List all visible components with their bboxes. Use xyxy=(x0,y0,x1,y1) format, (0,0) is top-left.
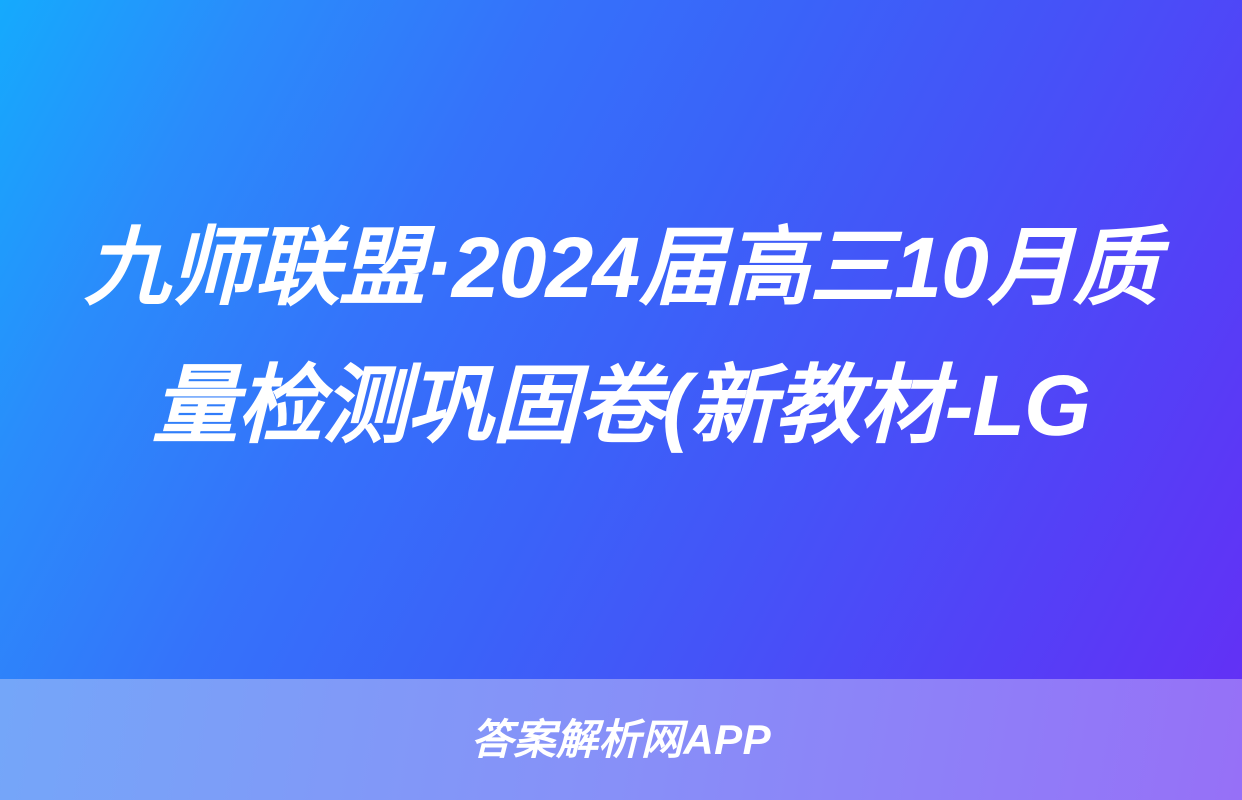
hero-banner: 九师联盟·2024届高三10月质量检测巩固卷(新教材-LG xyxy=(0,0,1242,679)
brand-watermark-label: 答案解析网APP xyxy=(471,719,771,761)
exam-paper-cover-poster: 九师联盟·2024届高三10月质量检测巩固卷(新教材-LG 答案解析网APP xyxy=(0,0,1242,800)
page-title: 九师联盟·2024届高三10月质量检测巩固卷(新教材-LG xyxy=(81,200,1161,479)
app-watermark-bar: 答案解析网APP xyxy=(0,679,1242,800)
